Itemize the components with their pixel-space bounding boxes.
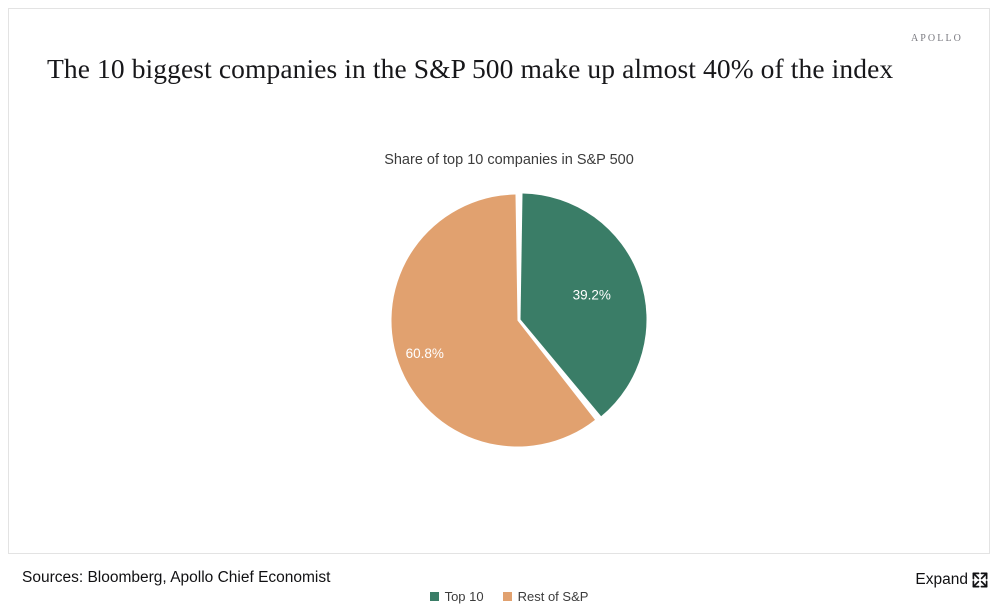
- pie-chart-svg: 39.2% 60.8%: [391, 192, 647, 448]
- sources-text: Sources: Bloomberg, Apollo Chief Economi…: [22, 569, 330, 587]
- pie-chart: 39.2% 60.8%: [9, 119, 1000, 489]
- chart-card: APOLLO The 10 biggest companies in the S…: [8, 8, 990, 554]
- expand-button-label: Expand: [915, 571, 968, 589]
- footer: Sources: Bloomberg, Apollo Chief Economi…: [0, 555, 1000, 604]
- expand-button[interactable]: Expand: [915, 570, 990, 590]
- expand-arrows-icon: [970, 570, 990, 590]
- pie-slice-label-rest-of-sp: 60.8%: [406, 346, 444, 361]
- chart-container: Share of top 10 companies in S&P 500 39.…: [9, 119, 989, 519]
- apollo-logo: APOLLO: [911, 33, 963, 44]
- page-title: The 10 biggest companies in the S&P 500 …: [47, 53, 893, 85]
- pie-slice-label-top-10: 39.2%: [573, 287, 611, 302]
